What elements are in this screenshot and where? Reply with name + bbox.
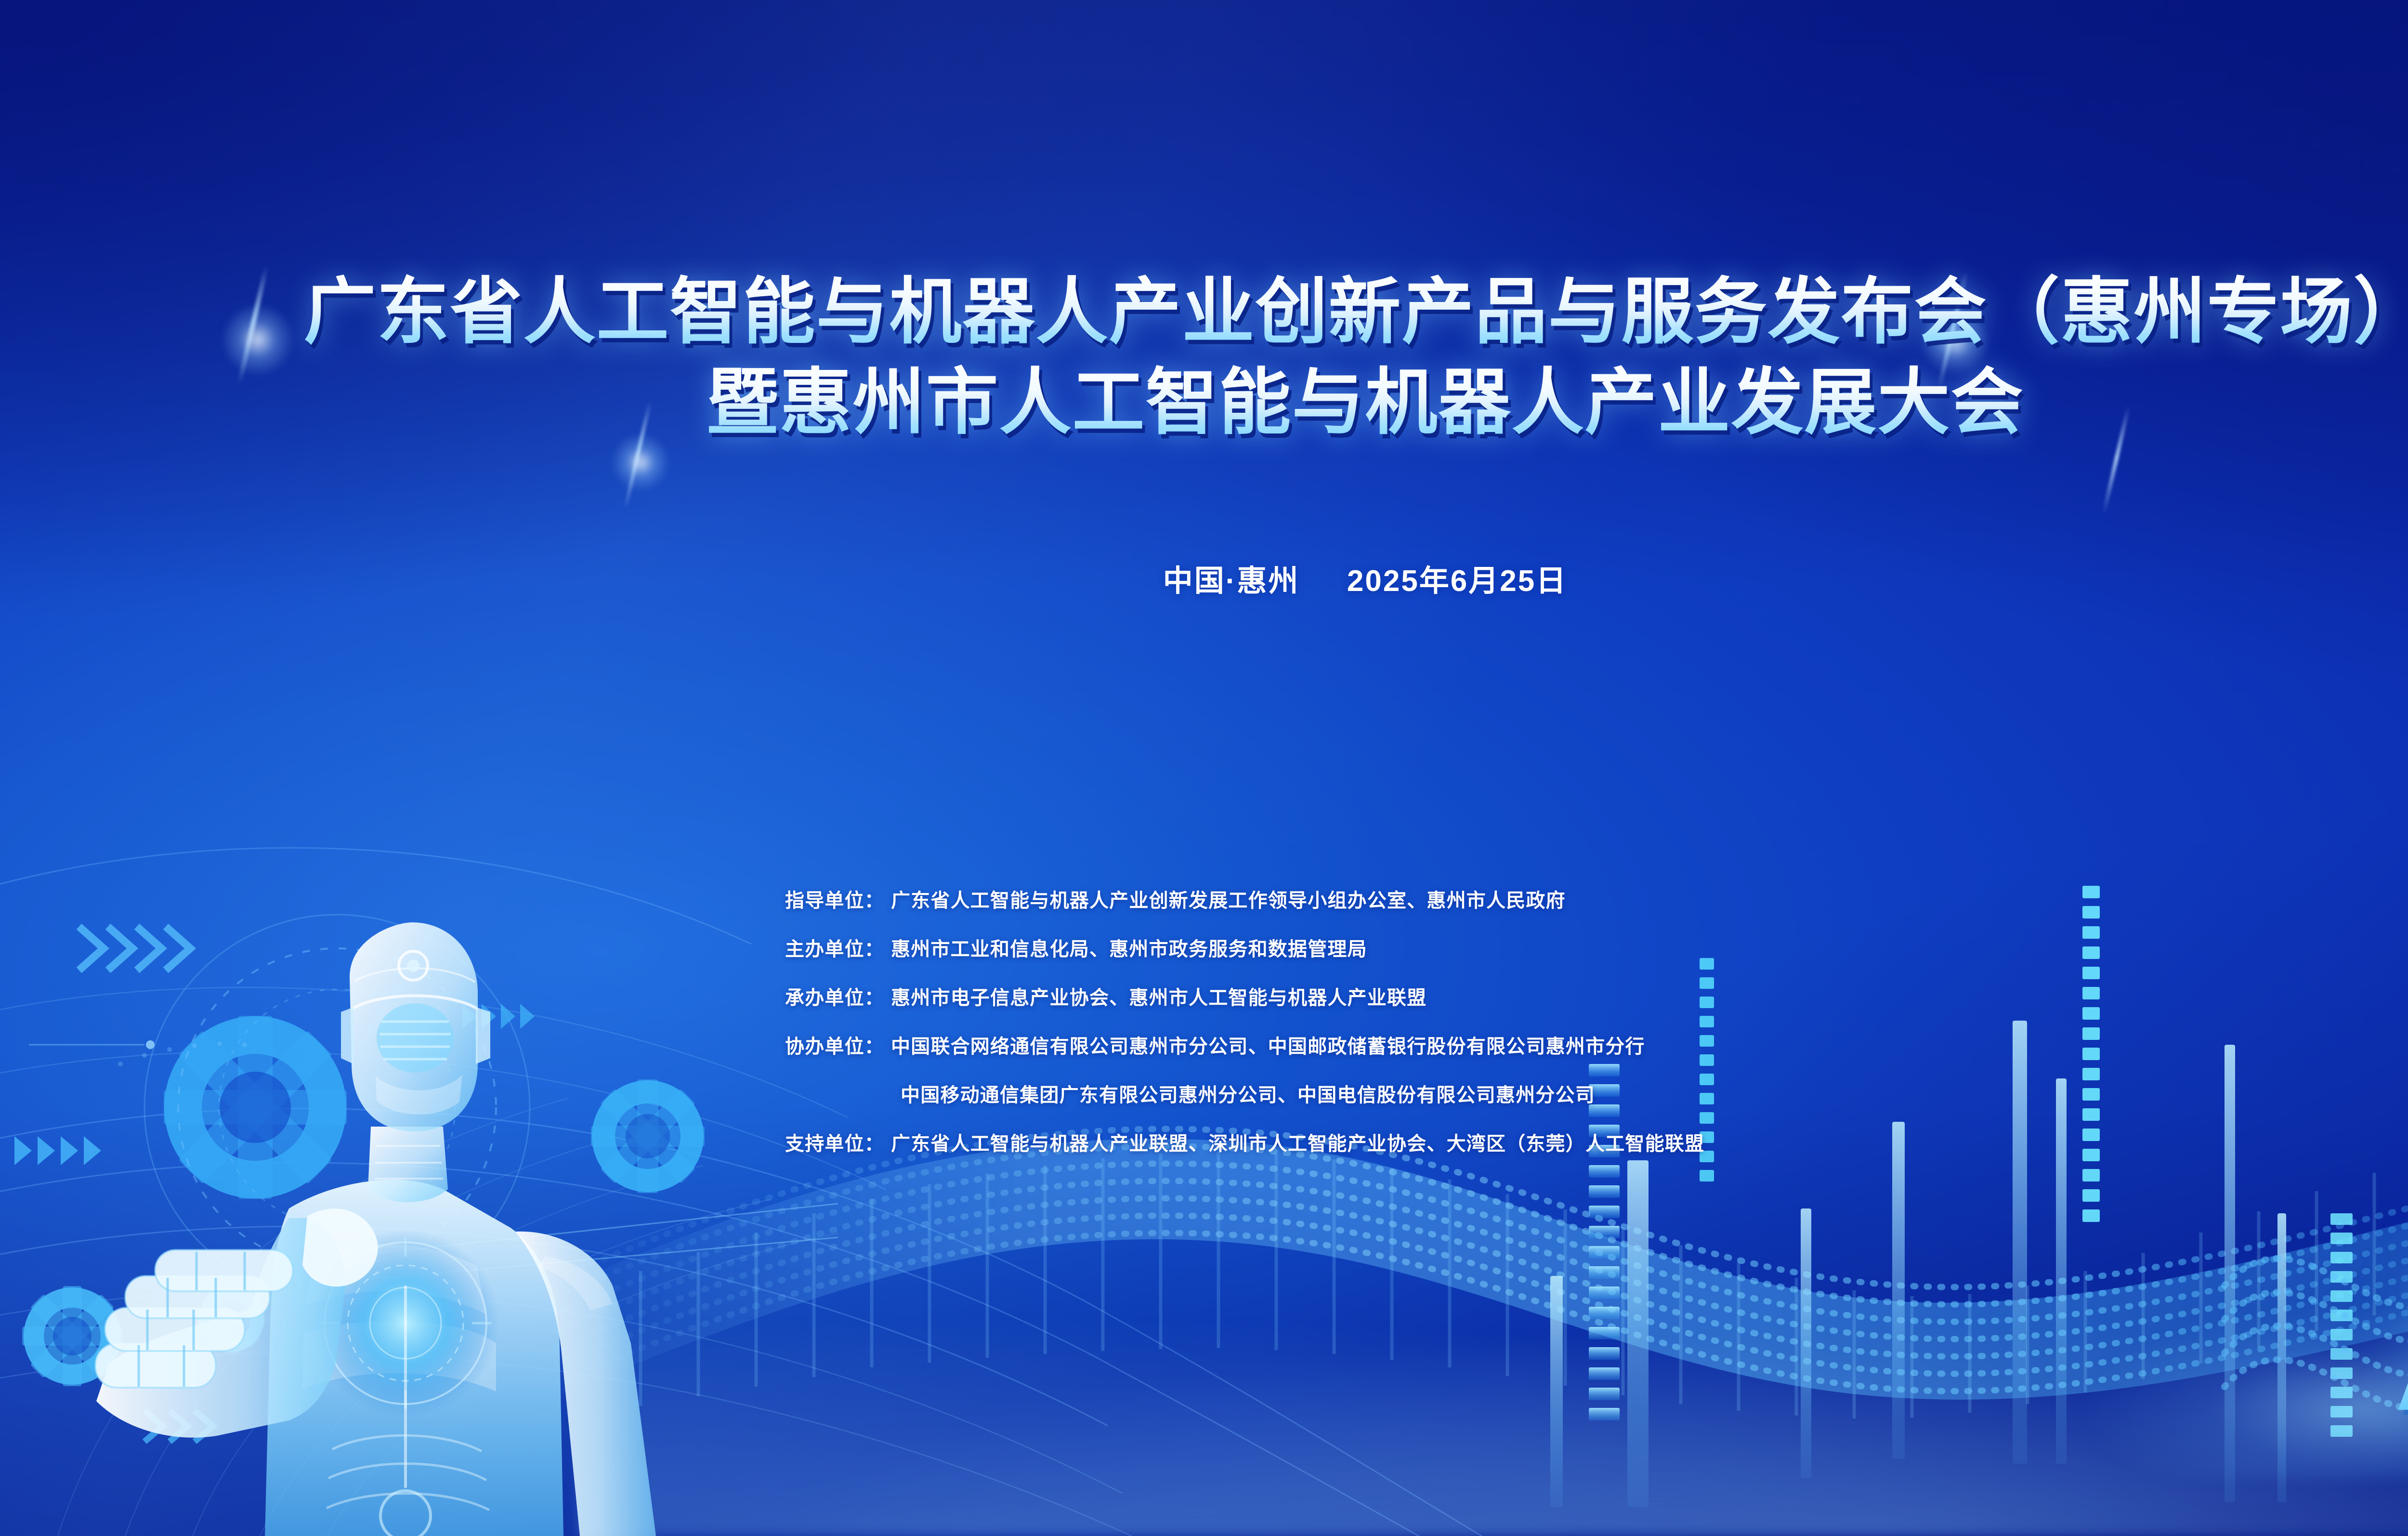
organizer-label: 指导单位： — [785, 877, 884, 925]
organizer-row: 主办单位：惠州市工业和信息化局、惠州市政务服务和数据管理局 — [785, 925, 1704, 974]
page-title-line-1: 广东省人工智能与机器人产业创新产品与服务发布会（惠州专场） — [0, 270, 2408, 354]
organizer-label: 协办单位： — [785, 1023, 884, 1071]
background-corner-shading — [0, 0, 2408, 1536]
event-date: 2025年6月25日 — [1347, 565, 1567, 598]
organizer-label: 承办单位： — [785, 974, 884, 1023]
organizer-row: 支持单位：广东省人工智能与机器人产业联盟、深圳市人工智能产业协会、大湾区（东莞）… — [785, 1120, 1704, 1168]
event-location: 中国·惠州 — [1163, 565, 1300, 598]
organizer-row: 协办单位：中国联合网络通信有限公司惠州市分公司、中国邮政储蓄银行股份有限公司惠州… — [785, 1023, 1704, 1071]
organizer-row: 承办单位：惠州市电子信息产业协会、惠州市人工智能与机器人产业联盟 — [785, 974, 1704, 1023]
organizer-row: 中国移动通信集团广东有限公司惠州分公司、中国电信股份有限公司惠州分公司 — [785, 1071, 1704, 1120]
organizer-value: 中国联合网络通信有限公司惠州市分公司、中国邮政储蓄银行股份有限公司惠州市分行 — [884, 1023, 1645, 1071]
page-title-line-2: 暨惠州市人工智能与机器人产业发展大会 — [0, 360, 2408, 444]
conference-banner: AI 广东省人工智能与机器人产业创新产品与服务发布会（惠州专场） 暨惠州市人工智… — [0, 0, 2408, 1536]
ai-logo: AI — [2393, 1235, 2408, 1442]
event-subtitle: 中国·惠州 2025年6月25日 — [0, 556, 2408, 600]
organizer-value: 广东省人工智能与机器人产业创新发展工作领导小组办公室、惠州市人民政府 — [884, 877, 1566, 925]
organizer-value: 惠州市电子信息产业协会、惠州市人工智能与机器人产业联盟 — [884, 974, 1426, 1023]
title-block: 广东省人工智能与机器人产业创新产品与服务发布会（惠州专场） 暨惠州市人工智能与机… — [0, 270, 2408, 444]
organizer-value: 广东省人工智能与机器人产业联盟、深圳市人工智能产业协会、大湾区（东莞）人工智能联… — [884, 1120, 1704, 1168]
organizer-label: 支持单位： — [785, 1120, 884, 1168]
organizer-list: 指导单位：广东省人工智能与机器人产业创新发展工作领导小组办公室、惠州市人民政府主… — [785, 877, 1704, 1168]
organizer-value: 中国移动通信集团广东有限公司惠州分公司、中国电信股份有限公司惠州分公司 — [894, 1071, 1595, 1120]
organizer-row: 指导单位：广东省人工智能与机器人产业创新发展工作领导小组办公室、惠州市人民政府 — [785, 877, 1704, 925]
organizer-label: 主办单位： — [785, 925, 884, 974]
organizer-value: 惠州市工业和信息化局、惠州市政务服务和数据管理局 — [884, 925, 1367, 974]
